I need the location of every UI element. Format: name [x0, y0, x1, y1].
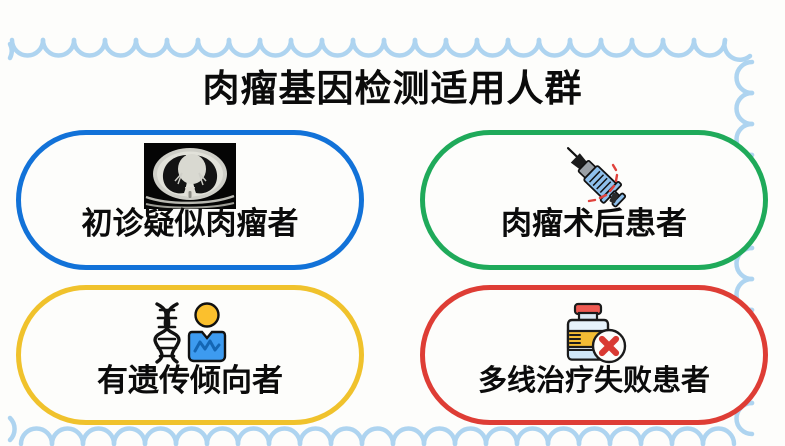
- card-label: 多线治疗失败患者: [478, 366, 710, 395]
- card-post-surgery[interactable]: 肉瘤术后患者: [420, 130, 768, 270]
- medicine-vial-blocked-icon: [559, 298, 629, 368]
- card-treatment-failure[interactable]: 多线治疗失败患者: [420, 285, 768, 425]
- syringe-icon: [554, 141, 634, 211]
- card-label: 初诊疑似肉瘤者: [82, 209, 299, 240]
- card-initial-suspected[interactable]: 初诊疑似肉瘤者: [16, 130, 364, 270]
- page-title: 肉瘤基因检测适用人群: [0, 58, 785, 112]
- dna-person-icon: [147, 298, 233, 368]
- card-label: 肉瘤术后患者: [501, 209, 687, 240]
- card-hereditary[interactable]: 有遗传倾向者: [16, 285, 364, 425]
- poster-canvas: 肉瘤基因检测适用人群: [0, 0, 785, 446]
- chest-ct-scan-icon: [144, 141, 236, 211]
- audience-card-grid: 初诊疑似肉瘤者: [16, 130, 768, 425]
- card-label: 有遗传倾向者: [97, 366, 283, 397]
